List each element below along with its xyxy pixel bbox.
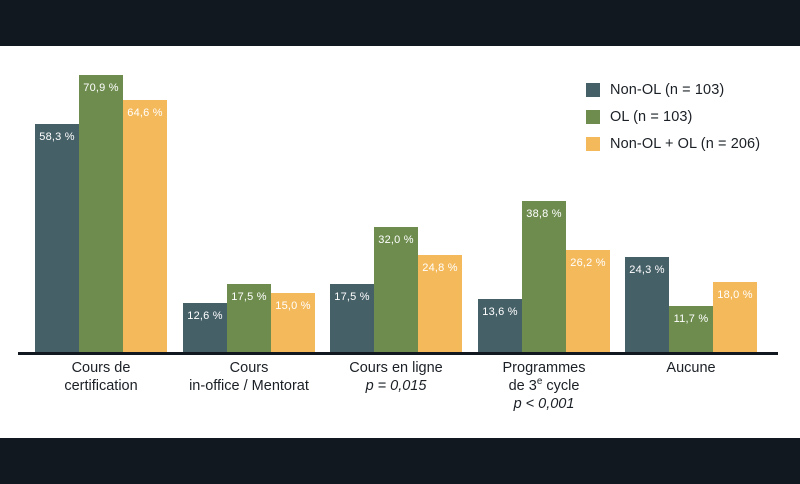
chart-screenshot: Non-OL (n = 103)OL (n = 103)Non-OL + OL … — [0, 0, 800, 484]
x-axis-tick-line: Aucune — [596, 359, 786, 377]
x-axis-tick-label: Aucune — [596, 359, 786, 377]
bar-value-label: 12,6 % — [183, 310, 227, 322]
top-banner — [0, 0, 800, 46]
bottom-banner — [0, 438, 800, 484]
bar[interactable]: 58,3 % — [35, 124, 79, 352]
bar[interactable]: 38,8 % — [522, 201, 566, 353]
x-axis-labels: Cours decertificationCoursin-office / Me… — [0, 359, 800, 435]
bar-value-label: 38,8 % — [522, 208, 566, 220]
bar-value-label: 15,0 % — [271, 300, 315, 312]
x-axis-tick-line: de 3e cycle — [449, 377, 639, 395]
bar-value-label: 32,0 % — [374, 234, 418, 246]
bar[interactable]: 70,9 % — [79, 75, 123, 352]
bar[interactable]: 17,5 % — [330, 284, 374, 352]
x-axis-line — [18, 352, 778, 355]
bar[interactable]: 32,0 % — [374, 227, 418, 352]
bar-group: 17,5 %32,0 %24,8 % — [330, 46, 462, 352]
bar-group: 58,3 %70,9 %64,6 % — [35, 46, 167, 352]
bar-value-label: 26,2 % — [566, 257, 610, 269]
bar-value-label: 24,8 % — [418, 262, 462, 274]
bar-group: 24,3 %11,7 %18,0 % — [625, 46, 757, 352]
bars-area: 58,3 %70,9 %64,6 %12,6 %17,5 %15,0 %17,5… — [0, 46, 800, 352]
bar[interactable]: 13,6 % — [478, 299, 522, 352]
bar-group: 12,6 %17,5 %15,0 % — [183, 46, 315, 352]
bar-value-label: 64,6 % — [123, 107, 167, 119]
bar[interactable]: 24,8 % — [418, 255, 462, 352]
bar-value-label: 13,6 % — [478, 306, 522, 318]
bar[interactable]: 26,2 % — [566, 250, 610, 352]
bar-value-label: 18,0 % — [713, 289, 757, 301]
bar-group: 13,6 %38,8 %26,2 % — [478, 46, 610, 352]
p-value-annotation: p < 0,001 — [449, 395, 639, 413]
bar-value-label: 17,5 % — [227, 291, 271, 303]
bar[interactable]: 64,6 % — [123, 100, 167, 352]
chart-plot-area: Non-OL (n = 103)OL (n = 103)Non-OL + OL … — [0, 46, 800, 438]
bar[interactable]: 11,7 % — [669, 306, 713, 352]
bar-value-label: 11,7 % — [669, 313, 713, 325]
bar[interactable]: 17,5 % — [227, 284, 271, 352]
bar[interactable]: 24,3 % — [625, 257, 669, 352]
bar-value-label: 70,9 % — [79, 82, 123, 94]
bar[interactable]: 12,6 % — [183, 303, 227, 352]
bar[interactable]: 15,0 % — [271, 293, 315, 352]
bar-value-label: 24,3 % — [625, 264, 669, 276]
bar-value-label: 58,3 % — [35, 131, 79, 143]
bar[interactable]: 18,0 % — [713, 282, 757, 352]
bar-value-label: 17,5 % — [330, 291, 374, 303]
